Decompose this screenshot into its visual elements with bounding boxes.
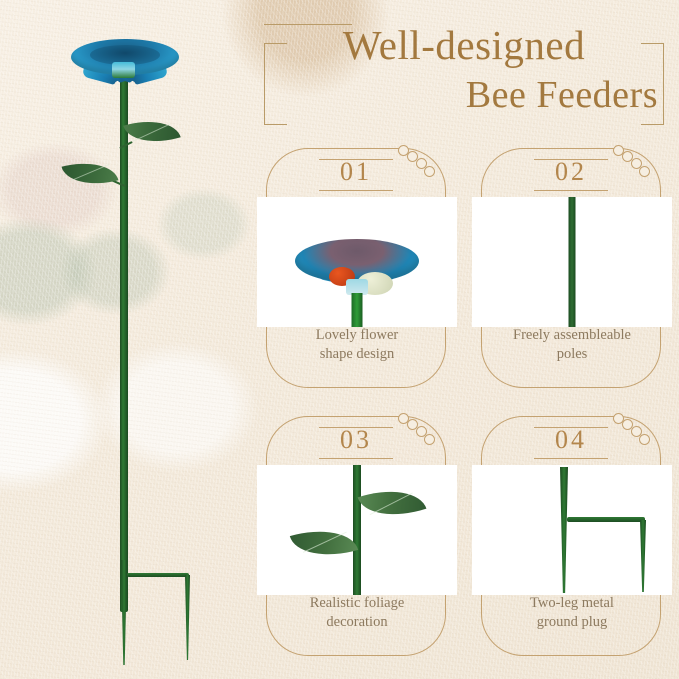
caption-line-1: Lovely flower: [316, 327, 399, 343]
caption-line-2: decoration: [326, 614, 387, 630]
caption-line-2: ground plug: [537, 614, 607, 630]
stake-stem: [120, 72, 128, 612]
ground-plug-main-leg: [121, 560, 127, 665]
card-caption: Freely assembleable poles: [476, 326, 668, 365]
feature-card-01: 01: [266, 148, 446, 388]
caption-line-1: Freely assembleable: [513, 327, 631, 343]
ground-plug-crossbar: [127, 573, 189, 577]
stake-main-leg-art: [560, 467, 568, 593]
card-number: 02: [482, 157, 660, 187]
caption-line-2: shape design: [320, 346, 395, 362]
card-caption: Realistic foliage decoration: [261, 594, 453, 633]
foliage-stem-art: [353, 465, 361, 595]
title-block: Well-designed Bee Feeders: [264, 24, 664, 139]
product-infographic: Well-designed Bee Feeders 01: [0, 0, 679, 679]
feature-cards-grid: 01: [264, 148, 679, 668]
stake-second-leg-art: [640, 520, 646, 592]
feeder-stem: [352, 293, 363, 327]
caption-line-1: Two-leg metal: [530, 595, 614, 611]
number-rule-bottom: [319, 190, 393, 191]
feature-card-02: 02 Freely assembleable poles: [481, 148, 661, 388]
card-caption: Two-leg metal ground plug: [476, 594, 668, 633]
flower-collar: [112, 62, 135, 78]
card-photo: [472, 197, 672, 327]
flower-closeup-art: [287, 223, 427, 323]
card-photo: [257, 465, 457, 595]
pole-art: [569, 197, 576, 327]
ground-plug-second-leg: [185, 575, 190, 660]
hero-product-image: [0, 0, 258, 679]
caption-line-1: Realistic foliage: [310, 595, 405, 611]
card-number: 01: [267, 157, 445, 187]
number-rule-bottom: [319, 458, 393, 459]
card-photo: [472, 465, 672, 595]
number-rule-bottom: [534, 458, 608, 459]
title-line-1: Well-designed: [264, 24, 664, 67]
feature-card-04: 04 Two-leg metal ground plug: [481, 416, 661, 656]
feeder-bowl: [295, 239, 419, 283]
number-rule-bottom: [534, 190, 608, 191]
card-caption: Lovely flower shape design: [261, 326, 453, 365]
caption-line-2: poles: [557, 346, 588, 362]
foliage-leaf-upper: [358, 478, 427, 528]
stake-crossbar-art: [567, 517, 645, 522]
card-photo: [257, 197, 457, 327]
feature-card-03: 03 Realistic foliage decoration: [266, 416, 446, 656]
card-number: 03: [267, 425, 445, 455]
leaf-upper: [123, 111, 180, 151]
leaf-lower: [62, 154, 119, 193]
title-line-2: Bee Feeders: [264, 76, 664, 116]
card-number: 04: [482, 425, 660, 455]
foliage-leaf-lower: [290, 519, 358, 567]
